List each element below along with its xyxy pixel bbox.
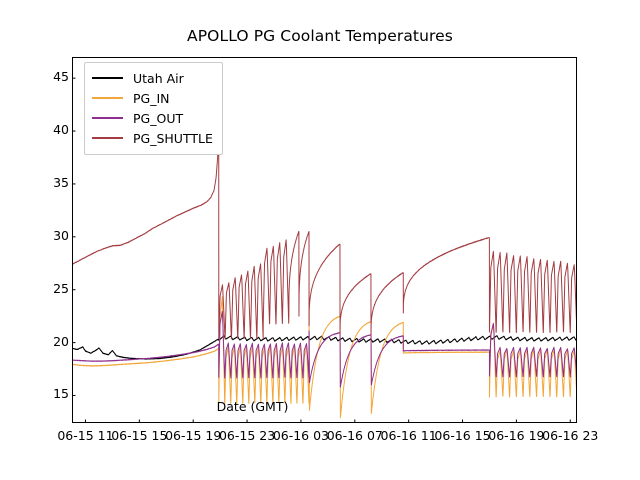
legend-swatch-icon (92, 77, 123, 79)
y-tick-label: 25 (9, 281, 69, 296)
legend-label: PG_IN (133, 91, 170, 106)
legend-swatch-icon (92, 117, 123, 119)
legend-entry-pg-shuttle[interactable]: PG_SHUTTLE (92, 128, 213, 148)
legend-swatch-icon (92, 137, 123, 139)
legend-label: Utah Air (133, 71, 184, 86)
legend-label: PG_OUT (133, 111, 183, 126)
y-tick-label: 40 (9, 122, 69, 137)
legend-label: PG_SHUTTLE (133, 131, 213, 146)
legend: Utah AirPG_INPG_OUTPG_SHUTTLE (84, 62, 223, 155)
plot-area: Utah AirPG_INPG_OUTPG_SHUTTLE 1520253035… (72, 57, 577, 423)
x-axis-label: Date (GMT) (0, 399, 505, 414)
legend-entry-pg-in[interactable]: PG_IN (92, 88, 213, 108)
y-tick-label: 20 (9, 334, 69, 349)
y-tick-label: 30 (9, 228, 69, 243)
legend-entry-utah-air[interactable]: Utah Air (92, 68, 213, 88)
page-title: APOLLO PG Coolant Temperatures (0, 27, 640, 45)
y-tick-label: 45 (9, 69, 69, 84)
figure: APOLLO PG Coolant Temperatures Utah AirP… (0, 0, 640, 480)
x-tick-label: 06-16 23 (525, 428, 615, 443)
legend-entry-pg-out[interactable]: PG_OUT (92, 108, 213, 128)
legend-swatch-icon (92, 97, 123, 99)
y-tick-label: 35 (9, 175, 69, 190)
